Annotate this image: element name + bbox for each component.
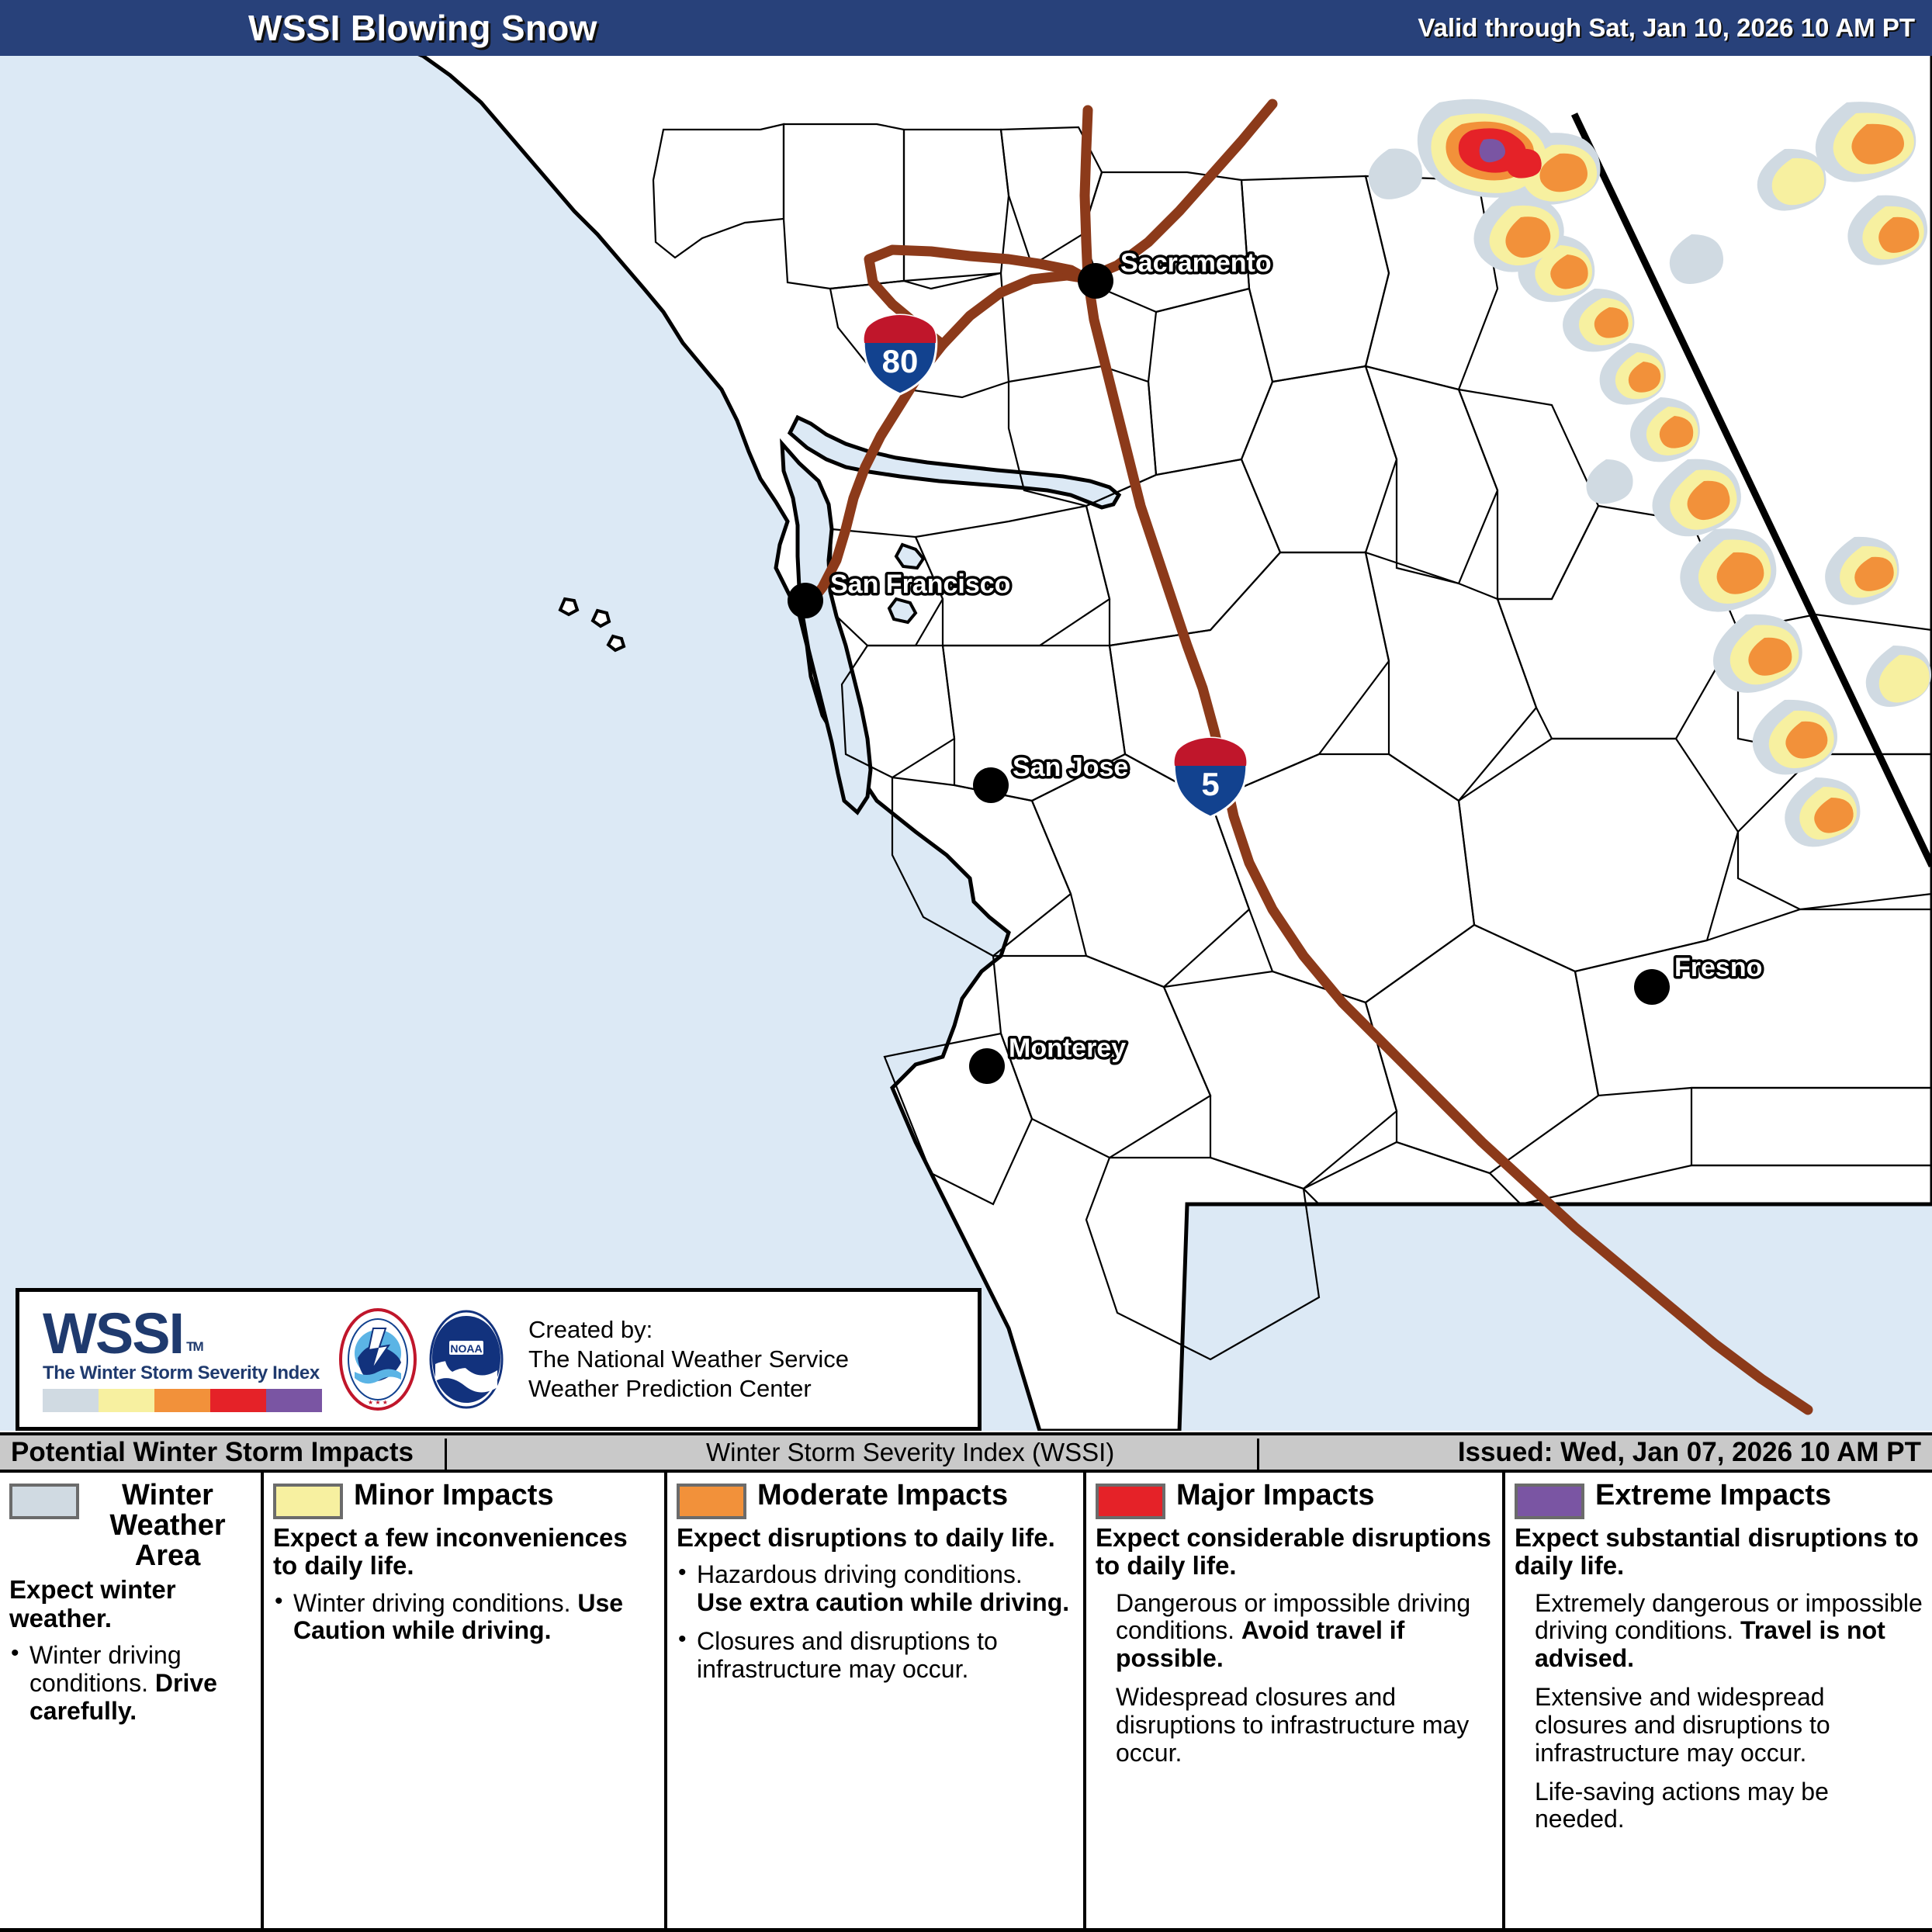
- legend-column-moderate[interactable]: Moderate Impacts Expect disruptions to d…: [667, 1473, 1086, 1928]
- nws-seal-icon: ★ ★ ★: [338, 1307, 418, 1412]
- legend-header: Extreme Impacts: [1515, 1480, 1923, 1519]
- city-label-monterey: Monterey: [1009, 1034, 1126, 1063]
- legend-bullets-major: Dangerous or impossible driving conditio…: [1096, 1590, 1493, 1768]
- legend-bullet: Life-saving actions may be needed.: [1515, 1778, 1923, 1834]
- legend-swatch-extreme: [1515, 1484, 1584, 1519]
- bullet-text: Hazardous driving conditions.: [697, 1560, 1023, 1588]
- ramp-extreme: [266, 1389, 322, 1412]
- wssi-brand: WSSI TM The Winter Storm Severity Index: [19, 1307, 330, 1412]
- legend-column-winter-weather-area[interactable]: Winter Weather Area Expect winter weathe…: [0, 1473, 264, 1928]
- svg-text:★ ★ ★: ★ ★ ★: [368, 1399, 388, 1406]
- bullet-text: Life-saving actions may be needed.: [1535, 1778, 1829, 1833]
- ramp-moderate: [154, 1389, 210, 1412]
- status-bar-divider-2: [1257, 1439, 1259, 1473]
- created-by-block: Created by: The National Weather Service…: [528, 1315, 849, 1403]
- legend-swatch-moderate: [677, 1484, 746, 1519]
- legend-bullet: Winter driving conditions. Use Caution w…: [273, 1590, 655, 1646]
- status-bar: Potential Winter Storm Impacts Winter St…: [0, 1432, 1932, 1473]
- legend-lead-minor: Expect a few inconveniences to daily lif…: [273, 1524, 655, 1581]
- legend-bullets-moderate: Hazardous driving conditions. Use extra …: [677, 1561, 1074, 1683]
- wssi-map-page: WSSI Blowing Snow Valid through Sat, Jan…: [0, 0, 1932, 1932]
- svg-text:80: 80: [882, 343, 919, 379]
- offshore-island-1: [560, 599, 577, 615]
- created-by-label: Created by:: [528, 1315, 849, 1345]
- offshore-island-2: [593, 611, 609, 626]
- bay-island-2: [889, 599, 916, 622]
- legend-header: Winter Weather Area: [9, 1480, 251, 1571]
- legend-swatch-major: [1096, 1484, 1165, 1519]
- status-bar-right: Issued: Wed, Jan 07, 2026 10 AM PT: [1458, 1437, 1921, 1468]
- legend-bullet: Closures and disruptions to infrastructu…: [677, 1628, 1074, 1684]
- city-label-san-jose: San Jose: [1013, 753, 1128, 782]
- legend-column-minor[interactable]: Minor Impacts Expect a few inconvenience…: [264, 1473, 667, 1928]
- noaa-seal-icon: NOAA: [426, 1307, 507, 1412]
- ramp-minor: [99, 1389, 154, 1412]
- legend-swatch-minor: [273, 1484, 343, 1519]
- legend-column-major[interactable]: Major Impacts Expect considerable disrup…: [1086, 1473, 1505, 1928]
- city-dot-monterey: [969, 1048, 1005, 1084]
- trademark-symbol: TM: [186, 1341, 203, 1353]
- city-label-fresno: Fresno: [1674, 953, 1762, 982]
- svg-text:5: 5: [1201, 766, 1219, 802]
- highway-i5-north: [1085, 110, 1088, 279]
- bullet-text: Extensive and widespread closures and di…: [1535, 1683, 1830, 1767]
- page-header: WSSI Blowing Snow Valid through Sat, Jan…: [0, 0, 1932, 56]
- legend-title-extreme: Extreme Impacts: [1595, 1480, 1831, 1511]
- wssi-logo-box: WSSI TM The Winter Storm Severity Index: [16, 1288, 982, 1431]
- legend-swatch-winter-weather-area: [9, 1484, 79, 1519]
- map-canvas: Sacramento San Francisco San Jose Fresno…: [0, 56, 1932, 1431]
- city-label-sacramento: Sacramento: [1120, 248, 1272, 278]
- legend-bullets-winter-weather-area: Winter driving conditions. Drive careful…: [9, 1642, 251, 1725]
- ramp-winter-weather: [43, 1389, 99, 1412]
- org-line-1: The National Weather Service: [528, 1345, 849, 1374]
- offshore-island-3: [608, 636, 624, 650]
- city-label-san-francisco: San Francisco: [830, 570, 1010, 599]
- legend-lead-major: Expect considerable disruptions to daily…: [1096, 1524, 1493, 1581]
- legend-lead-winter-weather-area: Expect winter weather.: [9, 1576, 251, 1633]
- status-bar-divider-1: [445, 1439, 447, 1473]
- valid-through-text: Valid through Sat, Jan 10, 2026 10 AM PT: [1418, 13, 1915, 43]
- legend-bullet: Winter driving conditions. Drive careful…: [9, 1642, 251, 1725]
- org-line-2: Weather Prediction Center: [528, 1374, 849, 1404]
- legend-header: Minor Impacts: [273, 1480, 655, 1519]
- wssi-tagline: The Winter Storm Severity Index: [43, 1362, 330, 1384]
- status-bar-middle: Winter Storm Severity Index (WSSI): [706, 1438, 1114, 1467]
- ramp-major: [210, 1389, 266, 1412]
- legend-lead-moderate: Expect disruptions to daily life.: [677, 1524, 1074, 1552]
- legend-title-moderate: Moderate Impacts: [757, 1480, 1008, 1511]
- impact-legend: Winter Weather Area Expect winter weathe…: [0, 1473, 1932, 1932]
- legend-bullet: Hazardous driving conditions. Use extra …: [677, 1561, 1074, 1617]
- bullet-text: Winter driving conditions.: [293, 1589, 577, 1617]
- city-dot-san-francisco: [788, 583, 823, 618]
- city-dot-san-jose: [973, 767, 1009, 803]
- wssi-color-ramp: [43, 1389, 322, 1412]
- wssi-wordmark: WSSI TM: [43, 1307, 330, 1361]
- city-dot-sacramento: [1078, 263, 1113, 299]
- legend-title-minor: Minor Impacts: [354, 1480, 554, 1511]
- noaa-seal-text: NOAA: [450, 1342, 482, 1355]
- bullet-text: Widespread closures and disruptions to i…: [1116, 1683, 1469, 1767]
- legend-column-extreme[interactable]: Extreme Impacts Expect substantial disru…: [1505, 1473, 1932, 1928]
- page-title: WSSI Blowing Snow: [248, 7, 597, 49]
- bullet-text: Closures and disruptions to infrastructu…: [697, 1627, 998, 1683]
- legend-lead-extreme: Expect substantial disruptions to daily …: [1515, 1524, 1923, 1581]
- legend-header: Moderate Impacts: [677, 1480, 1074, 1519]
- legend-bullet: Extremely dangerous or impossible drivin…: [1515, 1590, 1923, 1673]
- wssi-wordmark-text: WSSI: [43, 1307, 183, 1361]
- legend-header: Major Impacts: [1096, 1480, 1493, 1519]
- legend-bullets-minor: Winter driving conditions. Use Caution w…: [273, 1590, 655, 1646]
- legend-title-winter-weather-area: Winter Weather Area: [90, 1480, 245, 1571]
- weather-map[interactable]: Sacramento San Francisco San Jose Fresno…: [0, 56, 1932, 1431]
- legend-bullet: Widespread closures and disruptions to i…: [1096, 1684, 1493, 1767]
- legend-bullet: Extensive and widespread closures and di…: [1515, 1684, 1923, 1767]
- bullet-text-bold: Use extra caution while driving.: [697, 1588, 1069, 1616]
- legend-title-major: Major Impacts: [1176, 1480, 1375, 1511]
- city-dot-fresno: [1634, 969, 1670, 1005]
- legend-bullet: Dangerous or impossible driving conditio…: [1096, 1590, 1493, 1673]
- status-bar-left: Potential Winter Storm Impacts: [11, 1437, 414, 1468]
- legend-bullets-extreme: Extremely dangerous or impossible drivin…: [1515, 1590, 1923, 1834]
